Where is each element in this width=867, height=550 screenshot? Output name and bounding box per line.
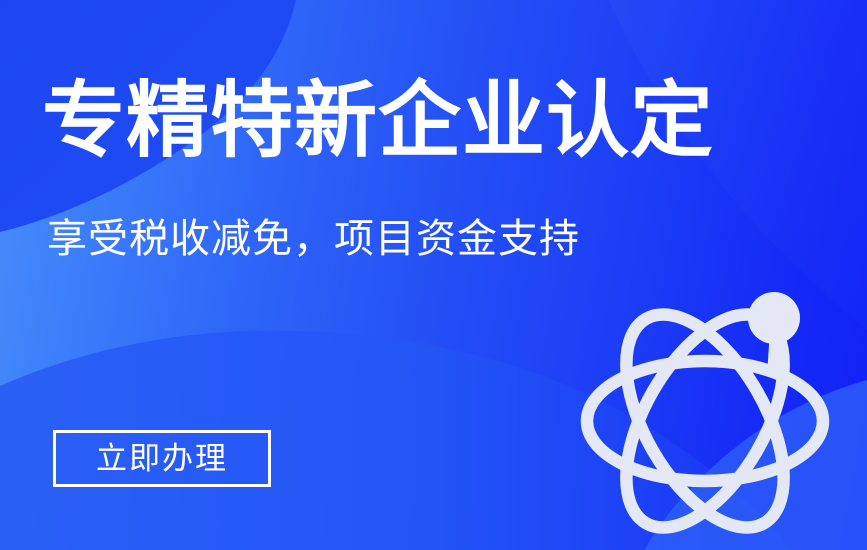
apply-now-button[interactable]: 立即办理 xyxy=(53,430,271,487)
banner-content: 专精特新企业认定 享受税收减免，项目资金支持 立即办理 xyxy=(0,0,867,550)
promo-banner: 专精特新企业认定 享受税收减免，项目资金支持 立即办理 xyxy=(0,0,867,550)
banner-subheadline: 享受税收减免，项目资金支持 xyxy=(47,216,580,262)
banner-headline: 专精特新企业认定 xyxy=(42,79,714,162)
